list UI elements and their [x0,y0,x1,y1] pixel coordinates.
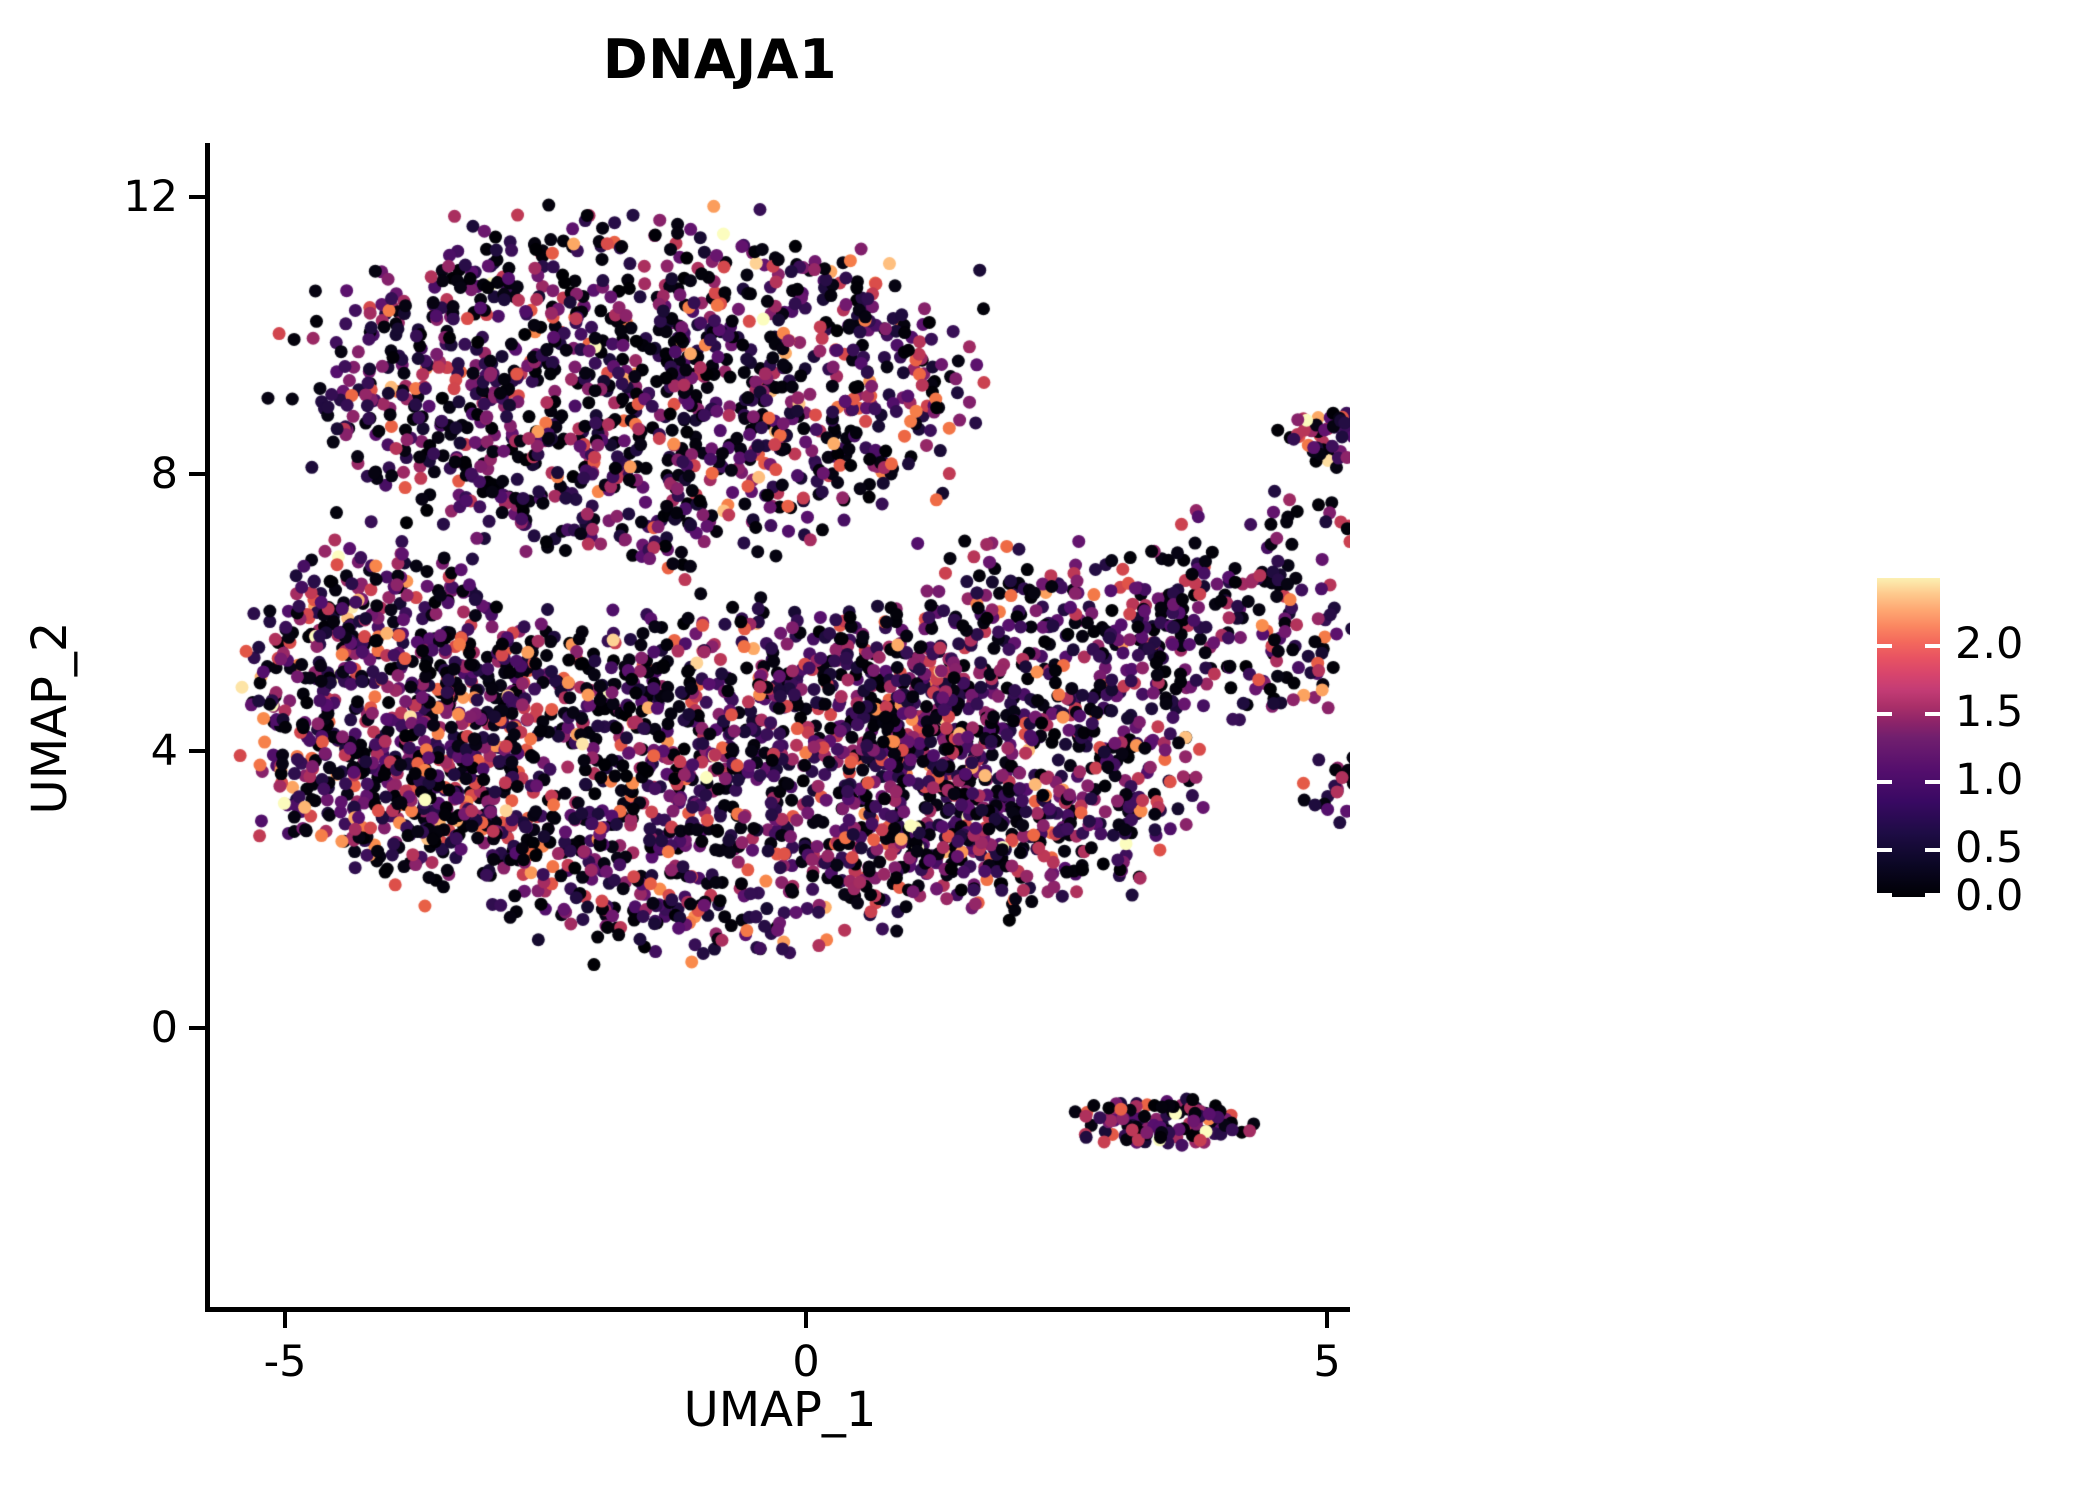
x-tick-label-neg5: -5 [264,1337,307,1387]
x-tick-mark-neg5 [283,1312,287,1328]
y-tick-label-12: 12 [123,172,178,222]
x-axis-spine [205,1307,1350,1312]
y-tick-label-4: 4 [151,726,178,776]
colorbar-tick-2_0-left [1877,644,1892,648]
y-tick-mark-8 [189,472,205,476]
colorbar-tick-2_0-right [1925,644,1940,648]
page-title: DNAJA1 [0,28,1440,91]
colorbar-tick-1_0-left [1877,780,1892,784]
colorbar-tick-0_5-left [1877,848,1892,852]
colorbar-tick-0_0-right [1925,893,1940,897]
colorbar: 2.0 1.5 1.0 0.5 0.0 [1877,578,1940,897]
colorbar-tick-1_5-right [1925,712,1940,716]
colorbar-label-0_5: 0.5 [1955,823,2023,873]
y-tick-mark-0 [189,1026,205,1030]
scatter-plot-area [210,143,1350,1307]
colorbar-tick-1_5-left [1877,712,1892,716]
colorbar-label-2_0: 2.0 [1955,619,2023,669]
y-tick-label-8: 8 [151,449,178,499]
colorbar-tick-1_0-right [1925,780,1940,784]
scatter-canvas [210,143,1350,1307]
colorbar-label-1_5: 1.5 [1955,687,2023,737]
y-tick-mark-4 [189,749,205,753]
x-tick-label-5: 5 [1313,1337,1340,1387]
x-axis-title: UMAP_1 [210,1382,1350,1438]
x-tick-label-0: 0 [792,1337,819,1387]
x-tick-mark-0 [804,1312,808,1328]
y-axis-title: UMAP_2 [22,438,78,998]
figure-root: DNAJA1 12 8 4 0 -5 0 5 UMAP_1 UMAP_2 [0,0,2100,1500]
x-tick-mark-5 [1325,1312,1329,1328]
y-tick-mark-12 [189,195,205,199]
plot-axes: 12 8 4 0 -5 0 5 [210,143,1350,1307]
colorbar-label-1_0: 1.0 [1955,755,2023,805]
colorbar-tick-0_5-right [1925,848,1940,852]
colorbar-label-0_0: 0.0 [1955,871,2023,921]
y-tick-label-0: 0 [151,1003,178,1053]
colorbar-tick-0_0-left [1877,893,1892,897]
